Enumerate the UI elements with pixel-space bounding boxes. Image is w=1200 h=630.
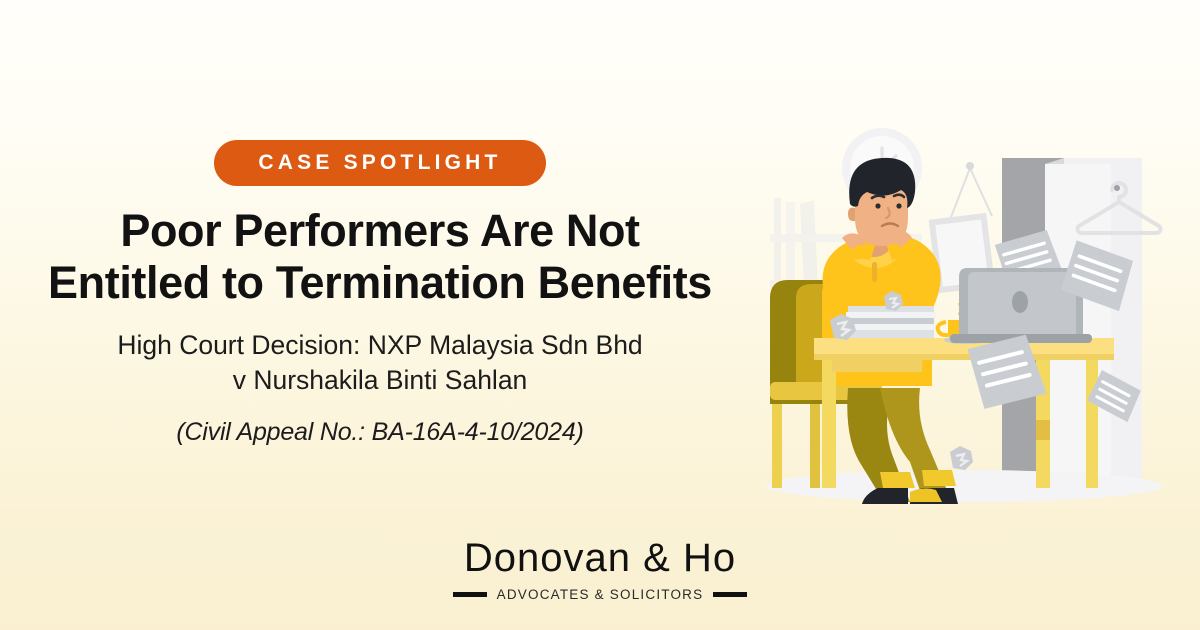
page-title: Poor Performers Are Not Entitled to Term… (48, 205, 712, 309)
brand-logo: Donovan & Ho ADVOCATES & SOLICITORS (0, 538, 1200, 602)
case-spotlight-badge: CASE SPOTLIGHT (214, 140, 545, 186)
logo-rule-right-icon (713, 592, 747, 597)
case-subtitle: High Court Decision: NXP Malaysia Sdn Bh… (117, 328, 642, 397)
headline-line-2: Entitled to Termination Benefits (48, 257, 712, 309)
subtitle-line-2: v Nurshakila Binti Sahlan (117, 363, 642, 397)
hanger-hook-dot-icon (1114, 185, 1120, 191)
logo-tagline: ADVOCATES & SOLICITORS (497, 587, 704, 602)
headline-line-1: Poor Performers Are Not (48, 205, 712, 257)
paper-stack-icon (846, 306, 936, 338)
text-column: CASE SPOTLIGHT Poor Performers Are Not E… (0, 140, 760, 447)
stressed-office-worker-illustration (752, 120, 1192, 520)
logo-wordmark: Donovan & Ho (464, 538, 736, 578)
logo-rule-left-icon (453, 592, 487, 597)
subtitle-line-1: High Court Decision: NXP Malaysia Sdn Bh… (117, 328, 642, 362)
logo-tagline-row: ADVOCATES & SOLICITORS (453, 587, 748, 602)
case-citation: (Civil Appeal No.: BA-16A-4-10/2024) (176, 418, 583, 447)
crumpled-paper-ball-icon (950, 446, 973, 470)
case-spotlight-banner: CASE SPOTLIGHT Poor Performers Are Not E… (0, 0, 1200, 630)
